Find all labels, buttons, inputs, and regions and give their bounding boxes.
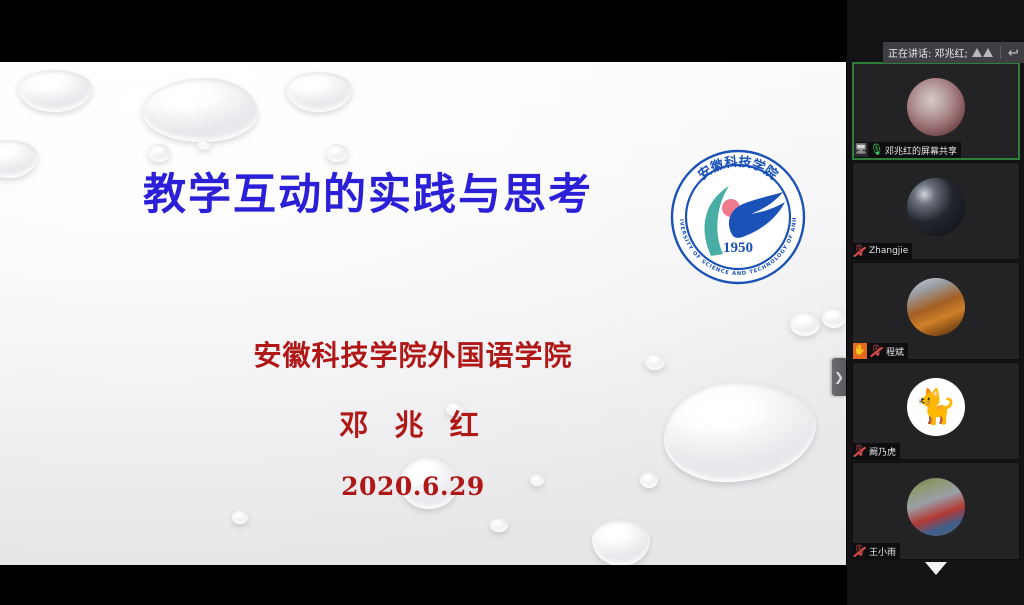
participant-tile-list: 🖥🎙邓兆红的屏幕共享🎙Zhangjie✋🎙程斌🐈🎙阚乃虎🎙王小雨 (852, 62, 1020, 560)
raise-hand-icon: ✋ (853, 343, 867, 359)
participant-tile[interactable]: 🎙王小雨 (852, 462, 1020, 560)
motorcycle-photo-avatar (907, 478, 965, 536)
slide-content: 教学互动的实践与思考 安徽科技学院外国语学院 邓 兆 红 2020.6.29 (0, 62, 846, 565)
divider (1000, 46, 1001, 59)
participant-label: 🎙Zhangjie (853, 243, 912, 259)
participant-tile[interactable]: 🖥🎙邓兆红的屏幕共享 (852, 62, 1020, 160)
participant-name: 阚乃虎 (869, 445, 896, 458)
microphone-muted-icon: 🎙 (853, 546, 866, 557)
panel-collapse-handle[interactable]: ❯ (832, 358, 846, 396)
microphone-muted-icon: 🎙 (870, 346, 883, 357)
microphone-muted-icon: 🎙 (853, 246, 866, 257)
participant-name: 程斌 (886, 345, 904, 358)
participant-video-panel: 正在讲话: 邓兆红; ↩ 🖥🎙邓兆红的屏幕共享🎙Zhangjie✋🎙程斌🐈🎙阚乃… (846, 0, 1024, 605)
slide-organization: 安徽科技学院外国语学院 (0, 334, 846, 374)
microphone-on-icon: 🎙 (871, 145, 882, 156)
participant-name: 王小雨 (869, 545, 896, 558)
participant-name: Zhangjie (869, 246, 908, 256)
sakura-photo-avatar (907, 78, 965, 136)
chevron-right-icon: ❯ (834, 371, 844, 383)
slide-presenter-name: 邓 兆 红 (0, 402, 846, 444)
audio-wave-icon (972, 48, 993, 57)
microphone-muted-icon: 🎙 (853, 446, 866, 457)
participant-tile[interactable]: ✋🎙程斌 (852, 262, 1020, 360)
participant-tile[interactable]: 🎙Zhangjie (852, 162, 1020, 260)
slide-date: 2020.6.29 (0, 472, 846, 501)
road-photo-avatar (907, 278, 965, 336)
participant-label: 🎙王小雨 (853, 543, 900, 559)
return-arrow-icon[interactable]: ↩ (1008, 46, 1019, 59)
speaking-status-text: 正在讲话: 邓兆红; (888, 45, 968, 60)
participant-tile[interactable]: 🐈🎙阚乃虎 (852, 362, 1020, 460)
night-photo-avatar (907, 178, 965, 236)
logo-year: 1950 (723, 240, 753, 256)
shared-content-region: 教学互动的实践与思考 安徽科技学院外国语学院 邓 兆 红 2020.6.29 (0, 0, 846, 605)
university-logo-icon: 1950 安徽科技学院 UNIVERSITY OF SCIENCE AND TE… (665, 144, 811, 290)
speaking-status-bar: 正在讲话: 邓兆红; ↩ (883, 42, 1024, 63)
participant-label: ✋🎙程斌 (853, 343, 908, 359)
participant-label: 🎙阚乃虎 (853, 443, 900, 459)
presentation-slide[interactable]: 教学互动的实践与思考 安徽科技学院外国语学院 邓 兆 红 2020.6.29 (0, 62, 846, 565)
participant-name: 邓兆红的屏幕共享 (885, 144, 957, 157)
participant-label: 🖥🎙邓兆红的屏幕共享 (854, 142, 961, 158)
cat-cartoon-avatar: 🐈 (907, 378, 965, 436)
screen-share-icon: 🖥 (854, 143, 868, 157)
meeting-screen-share-view: 教学互动的实践与思考 安徽科技学院外国语学院 邓 兆 红 2020.6.29 (0, 0, 1024, 605)
cat-cartoon-glyph: 🐈 (907, 378, 965, 436)
chevron-down-icon[interactable] (925, 562, 947, 575)
